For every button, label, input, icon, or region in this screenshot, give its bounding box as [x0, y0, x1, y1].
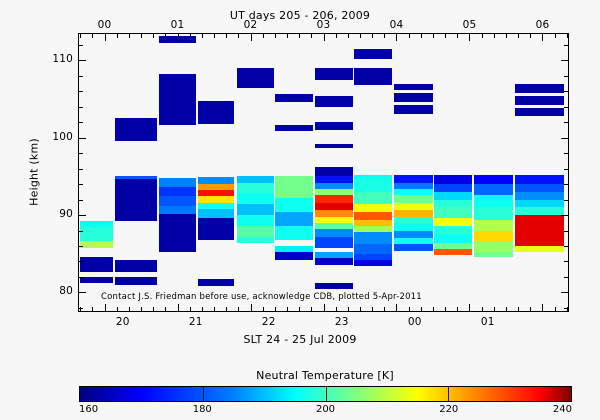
heatmap-cell — [354, 232, 392, 244]
heatmap-cell — [315, 203, 353, 211]
bottom-axis-tick-label: 20 — [116, 316, 130, 328]
axis-tick — [518, 307, 519, 311]
heatmap-cell — [159, 206, 197, 214]
axis-tick — [360, 307, 361, 311]
colorbar-tick — [203, 387, 204, 401]
axis-tick — [263, 307, 264, 311]
axis-tick — [336, 34, 337, 38]
axis-tick — [433, 307, 434, 311]
heatmap-cell — [115, 176, 157, 179]
axis-tick — [469, 304, 470, 311]
axis-tick — [79, 91, 83, 92]
axis-tick — [202, 307, 203, 311]
axis-tick — [494, 34, 495, 38]
heatmap-cell — [394, 175, 433, 183]
heatmap-cell — [434, 175, 472, 184]
heatmap-cell — [80, 241, 113, 247]
heatmap-cell — [159, 178, 197, 187]
axis-tick — [79, 200, 83, 201]
top-axis-tick-label: 05 — [463, 19, 477, 31]
axis-tick — [275, 34, 276, 38]
bottom-axis-tick-label: 22 — [262, 316, 276, 328]
heatmap-cell — [198, 209, 234, 218]
heatmap-cell — [80, 221, 113, 227]
axis-tick — [542, 34, 543, 41]
heatmap-cell — [515, 96, 565, 105]
axis-tick — [457, 307, 458, 311]
axis-tick — [79, 261, 83, 262]
heatmap-cell — [434, 200, 472, 208]
axis-tick — [348, 34, 349, 38]
axis-tick — [506, 34, 507, 38]
axis-tick — [79, 76, 83, 77]
heatmap-cell — [354, 260, 392, 266]
heatmap-cell — [237, 193, 273, 204]
heatmap-cell — [394, 93, 433, 102]
y-axis-tick-label: 100 — [52, 131, 73, 143]
axis-tick — [564, 246, 568, 247]
axis-tick — [567, 34, 568, 38]
heatmap-cell — [275, 94, 313, 102]
axis-tick — [190, 34, 191, 38]
axis-tick — [445, 307, 446, 311]
axis-tick — [348, 307, 349, 311]
axis-tick — [79, 153, 83, 154]
axis-tick — [129, 307, 130, 311]
axis-tick — [79, 277, 83, 278]
top-axis-tick-label: 02 — [244, 19, 258, 31]
axis-tick — [494, 307, 495, 311]
axis-tick — [299, 307, 300, 311]
axis-tick — [79, 107, 83, 108]
axis-tick — [238, 34, 239, 38]
axis-tick — [482, 34, 483, 38]
heatmap-cell — [275, 212, 313, 226]
heatmap-cell — [394, 244, 433, 250]
axis-tick — [469, 34, 470, 41]
axis-tick — [202, 34, 203, 38]
bottom-axis-tick-label: 00 — [408, 316, 422, 328]
axis-tick — [79, 231, 83, 232]
axis-tick — [409, 307, 410, 311]
axis-tick — [564, 122, 568, 123]
heatmap-cell — [474, 231, 513, 242]
heatmap-cell — [315, 167, 353, 176]
colorbar-tick-label: 180 — [193, 404, 212, 415]
axis-tick — [311, 307, 312, 311]
heatmap-cell — [434, 184, 472, 192]
axis-tick — [226, 307, 227, 311]
heatmap-data-layer — [79, 34, 568, 311]
axis-tick — [396, 34, 397, 41]
axis-tick — [117, 307, 118, 311]
heatmap-cell — [159, 187, 197, 196]
axis-tick — [92, 34, 93, 38]
heatmap-cell — [198, 279, 234, 287]
axis-tick — [178, 304, 179, 311]
axis-tick — [564, 231, 568, 232]
heatmap-cell — [315, 237, 353, 248]
heatmap-cell — [275, 226, 313, 240]
heatmap-cell — [237, 226, 273, 237]
heatmap-cell — [434, 226, 472, 234]
heatmap-cell — [434, 249, 472, 255]
axis-tick — [79, 215, 86, 216]
heatmap-cell — [394, 203, 433, 211]
axis-tick — [564, 45, 568, 46]
axis-tick — [105, 34, 106, 41]
heatmap-cell — [315, 229, 353, 237]
axis-tick — [336, 307, 337, 311]
heatmap-cell — [315, 195, 353, 203]
heatmap-cell — [354, 179, 392, 191]
axis-tick — [384, 307, 385, 311]
heatmap-cell — [275, 198, 313, 212]
axis-tick — [79, 169, 83, 170]
top-axis-tick-label: 03 — [317, 19, 331, 31]
axis-tick — [564, 76, 568, 77]
axis-tick — [433, 34, 434, 38]
heatmap-cell — [474, 252, 513, 257]
axis-tick — [287, 307, 288, 311]
axis-tick — [165, 34, 166, 38]
axis-tick — [263, 34, 264, 38]
axis-tick — [409, 34, 410, 38]
heatmap-cell — [354, 212, 392, 220]
axis-tick — [396, 304, 397, 311]
axis-tick — [457, 34, 458, 38]
axis-tick — [530, 34, 531, 38]
heatmap-cell — [315, 68, 353, 80]
axis-tick — [141, 34, 142, 38]
bottom-axis-tick-label: 01 — [481, 316, 495, 328]
axis-tick — [564, 184, 568, 185]
axis-tick — [555, 34, 556, 38]
axis-tick — [561, 60, 568, 61]
bottom-axis-tick-label: 23 — [335, 316, 349, 328]
colorbar-tick-label: 240 — [553, 404, 572, 415]
axis-tick — [299, 34, 300, 38]
heatmap-cell — [515, 175, 565, 184]
axis-tick — [564, 153, 568, 154]
heatmap-cell — [474, 207, 513, 219]
axis-tick — [561, 138, 568, 139]
axis-tick — [506, 307, 507, 311]
heatmap-cell — [237, 204, 273, 215]
axis-tick — [165, 307, 166, 311]
axis-tick — [117, 34, 118, 38]
heatmap-cell — [394, 223, 433, 231]
colorbar-tick-label: 160 — [79, 404, 98, 415]
axis-tick — [214, 34, 215, 38]
axis-tick — [79, 246, 83, 247]
heatmap-cell — [115, 277, 157, 285]
axis-tick — [561, 292, 568, 293]
y-axis-tick-label: 110 — [52, 53, 73, 65]
heatmap-cell — [515, 84, 565, 93]
axis-tick — [311, 34, 312, 38]
axis-tick — [251, 34, 252, 41]
heatmap-cell — [275, 183, 313, 198]
axis-tick — [564, 107, 568, 108]
axis-tick — [372, 307, 373, 311]
bottom-axis-tick-label: 21 — [189, 316, 203, 328]
axis-tick — [384, 34, 385, 38]
heatmap-cell — [159, 214, 197, 240]
heatmap-cell — [515, 192, 565, 200]
axis-tick — [153, 307, 154, 311]
heatmap-cell — [354, 192, 392, 204]
heatmap-cell — [515, 238, 565, 246]
heatmap-cell — [515, 207, 565, 215]
heatmap-cell — [159, 74, 197, 100]
axis-tick — [360, 34, 361, 38]
credit-text: Contact J.S. Friedman before use, acknow… — [101, 292, 422, 302]
bottom-axis-title: SLT 24 - 25 Jul 2009 — [243, 333, 356, 346]
axis-tick — [190, 307, 191, 311]
heatmap-cell — [198, 101, 234, 124]
colorbar-tick-label: 200 — [316, 404, 335, 415]
heatmap-cell — [315, 283, 353, 289]
heatmap-cell — [159, 101, 197, 126]
colorbar-tick-label: 220 — [439, 404, 458, 415]
axis-tick — [287, 34, 288, 38]
axis-tick — [324, 304, 325, 311]
axis-tick — [153, 34, 154, 38]
axis-tick — [129, 34, 130, 38]
colorbar-title: Neutral Temperature [K] — [256, 369, 394, 382]
heatmap-cell — [237, 237, 273, 243]
heatmap-cell — [80, 277, 113, 283]
heatmap-cell — [80, 257, 113, 272]
axis-tick — [214, 307, 215, 311]
top-axis-tick-label: 04 — [390, 19, 404, 31]
axis-tick — [79, 138, 86, 139]
heatmap-cell — [354, 49, 392, 58]
heatmap-cell — [198, 218, 234, 240]
axis-tick — [324, 34, 325, 41]
heatmap-cell — [115, 179, 157, 221]
y-axis-tick-label: 90 — [59, 208, 73, 220]
y-axis-tick-label: 80 — [59, 285, 73, 297]
axis-tick — [275, 307, 276, 311]
heatmap-cell — [394, 105, 433, 114]
axis-tick — [564, 169, 568, 170]
axis-tick — [561, 215, 568, 216]
top-axis-tick-label: 01 — [171, 19, 185, 31]
y-axis-title: Height (km) — [28, 138, 41, 206]
heatmap-cell — [434, 207, 472, 218]
heatmap-cell — [80, 227, 113, 241]
top-axis-tick-label: 06 — [536, 19, 550, 31]
colorbar — [79, 386, 572, 402]
axis-tick — [421, 307, 422, 311]
axis-tick — [564, 277, 568, 278]
plot-frame — [78, 33, 569, 312]
heatmap-cell — [315, 122, 353, 130]
heatmap-cell — [515, 215, 565, 226]
heatmap-cell — [354, 68, 392, 85]
heatmap-cell — [315, 144, 353, 149]
heatmap-cell — [474, 175, 513, 184]
heatmap-cell — [394, 84, 433, 90]
axis-tick — [372, 34, 373, 38]
heatmap-cell — [237, 183, 273, 194]
heatmap-cell — [159, 240, 197, 252]
heatmap-cell — [515, 246, 565, 252]
axis-tick — [178, 34, 179, 41]
heatmap-cell — [237, 68, 273, 88]
heatmap-cell — [354, 244, 392, 253]
heatmap-cell — [275, 125, 313, 131]
heatmap-cell — [237, 215, 273, 226]
axis-tick — [79, 292, 86, 293]
heatmap-cell — [115, 118, 157, 141]
axis-tick — [564, 91, 568, 92]
axis-tick — [421, 34, 422, 38]
heatmap-cell — [315, 258, 353, 264]
axis-tick — [518, 34, 519, 38]
axis-tick — [79, 184, 83, 185]
heatmap-cell — [474, 184, 513, 195]
heatmap-cell — [159, 196, 197, 205]
top-axis-tick-label: 00 — [98, 19, 112, 31]
heatmap-cell — [474, 195, 513, 207]
heatmap-cell — [515, 184, 565, 192]
heatmap-cell — [474, 220, 513, 231]
axis-tick — [79, 60, 86, 61]
axis-tick — [251, 304, 252, 311]
axis-tick — [542, 304, 543, 311]
axis-tick — [555, 307, 556, 311]
heatmap-cell — [315, 96, 353, 107]
heatmap-cell — [275, 252, 313, 260]
heatmap-cell — [354, 204, 392, 212]
axis-tick — [141, 307, 142, 311]
axis-tick — [564, 261, 568, 262]
colorbar-tick — [448, 387, 449, 401]
axis-tick — [79, 308, 83, 309]
heatmap-cell — [515, 226, 565, 238]
axis-tick — [564, 308, 568, 309]
axis-tick — [238, 307, 239, 311]
axis-tick — [92, 307, 93, 311]
heatmap-cell — [434, 234, 472, 243]
heatmap-cell — [515, 200, 565, 208]
axis-tick — [105, 304, 106, 311]
colorbar-tick — [326, 387, 327, 401]
axis-tick — [79, 45, 83, 46]
axis-tick — [564, 200, 568, 201]
heatmap-cell — [198, 177, 234, 184]
heatmap-cell — [394, 231, 433, 239]
axis-tick — [80, 34, 81, 38]
heatmap-cell — [115, 260, 157, 272]
axis-tick — [482, 307, 483, 311]
heatmap-cell — [515, 108, 565, 116]
axis-tick — [445, 34, 446, 38]
axis-tick — [79, 122, 83, 123]
heatmap-cell — [434, 218, 472, 226]
heatmap-cell — [434, 192, 472, 200]
axis-tick — [226, 34, 227, 38]
heatmap-cell — [394, 195, 433, 203]
heatmap-cell — [474, 241, 513, 252]
colorbar-gradient — [79, 386, 572, 402]
axis-tick — [530, 307, 531, 311]
